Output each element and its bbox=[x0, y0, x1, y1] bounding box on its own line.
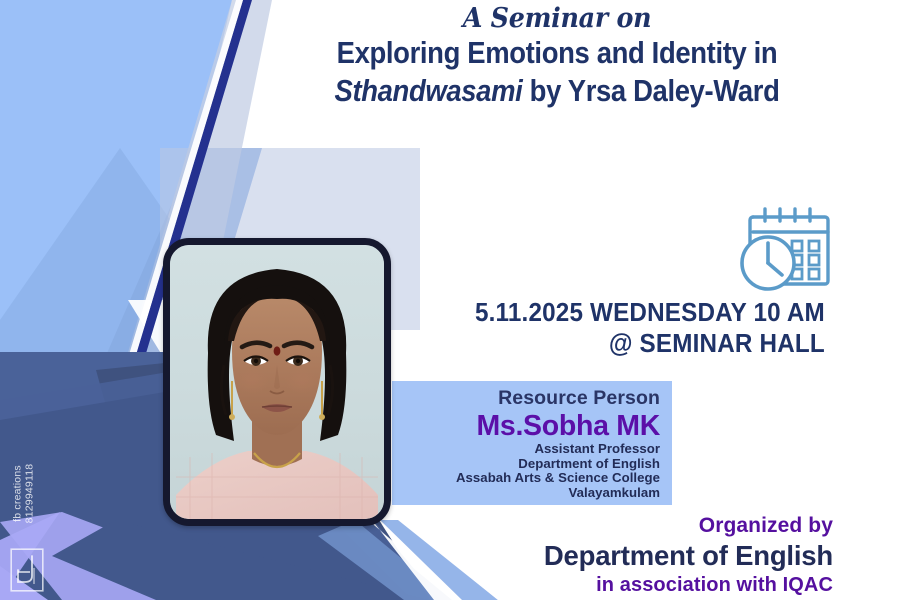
resource-person-affiliation-3: Assabah Arts & Science College bbox=[402, 471, 660, 486]
calendar-clock-icon bbox=[737, 205, 837, 297]
resource-person-affiliation-4: Valayamkulam bbox=[402, 486, 660, 501]
seminar-poster: fb creations 8129949118 A Seminar on Exp… bbox=[0, 0, 900, 600]
resource-person-name: Ms.Sobha MK bbox=[402, 410, 660, 442]
organizer-association: in association with IQAC bbox=[430, 572, 833, 598]
organizer-prefix: Organized by bbox=[430, 512, 833, 539]
resource-person-panel: Resource Person Ms.Sobha MK Assistant Pr… bbox=[392, 381, 672, 505]
organizer-department: Department of English bbox=[430, 539, 833, 572]
schedule-block: 5.11.2025 WEDNESDAY 10 AM @ SEMINAR HALL bbox=[430, 298, 835, 360]
heading-eyebrow: A Seminar on bbox=[252, 4, 863, 34]
book-author: by Yrsa Daley-Ward bbox=[522, 74, 779, 108]
resource-person-affiliation-2: Department of English bbox=[402, 457, 660, 472]
fb-creations-logo bbox=[10, 548, 44, 592]
resource-person-affiliation-1: Assistant Professor bbox=[402, 442, 660, 457]
portrait-illustration bbox=[170, 245, 384, 519]
resource-person-photo bbox=[170, 245, 384, 519]
watermark-credit: fb creations bbox=[12, 465, 24, 522]
watermark-phone: 8129949118 bbox=[23, 464, 35, 524]
book-title: Sthandwasami bbox=[335, 74, 523, 108]
schedule-venue: @ SEMINAR HALL bbox=[440, 329, 825, 360]
watermark: fb creations 8129949118 bbox=[2, 420, 48, 600]
heading-title-line-1: Exploring Emotions and Identity in bbox=[265, 34, 850, 72]
resource-person-label: Resource Person bbox=[402, 386, 660, 410]
poster-heading: A Seminar on Exploring Emotions and Iden… bbox=[232, 4, 882, 110]
heading-title-line-2: Sthandwasami by Yrsa Daley-Ward bbox=[265, 72, 850, 110]
resource-person-photo-frame bbox=[163, 238, 391, 526]
organizer-block: Organized by Department of English in as… bbox=[430, 512, 833, 598]
watermark-text: fb creations 8129949118 bbox=[13, 434, 36, 554]
schedule-date-time: 5.11.2025 WEDNESDAY 10 AM bbox=[440, 298, 825, 329]
